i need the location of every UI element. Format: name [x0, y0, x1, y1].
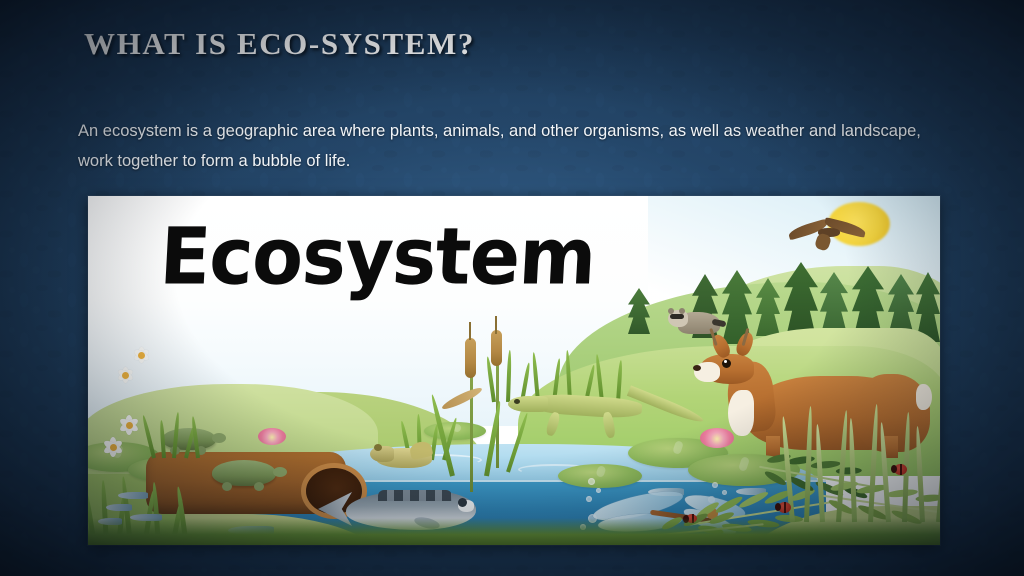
lily-pad — [558, 464, 642, 488]
daisy-icon — [116, 366, 134, 384]
ladybug-icon — [894, 464, 907, 475]
water-lily — [258, 428, 286, 445]
foreground-vegetation — [88, 518, 940, 545]
illustration-caption: Ecosystem — [158, 218, 597, 296]
ladybug-icon — [778, 502, 791, 513]
page-title: WHAT IS ECO-SYSTEM? — [84, 26, 475, 62]
frog-icon — [370, 438, 440, 470]
tall-grass — [788, 402, 940, 522]
daisy-icon — [102, 436, 124, 458]
eagle-icon — [788, 218, 868, 258]
minnow-icon — [106, 504, 132, 511]
lizard-icon — [508, 382, 708, 456]
turtle-icon — [212, 460, 276, 486]
presentation-slide: WHAT IS ECO-SYSTEM? An ecosystem is a ge… — [0, 0, 1024, 576]
grass-tuft — [148, 410, 218, 458]
ecosystem-illustration: Ecosystem — [88, 196, 940, 545]
daisy-icon — [132, 346, 150, 364]
body-paragraph: An ecosystem is a geographic area where … — [78, 116, 938, 176]
minnow-icon — [118, 492, 148, 499]
daisy-icon — [118, 414, 140, 436]
bubble — [588, 478, 595, 485]
